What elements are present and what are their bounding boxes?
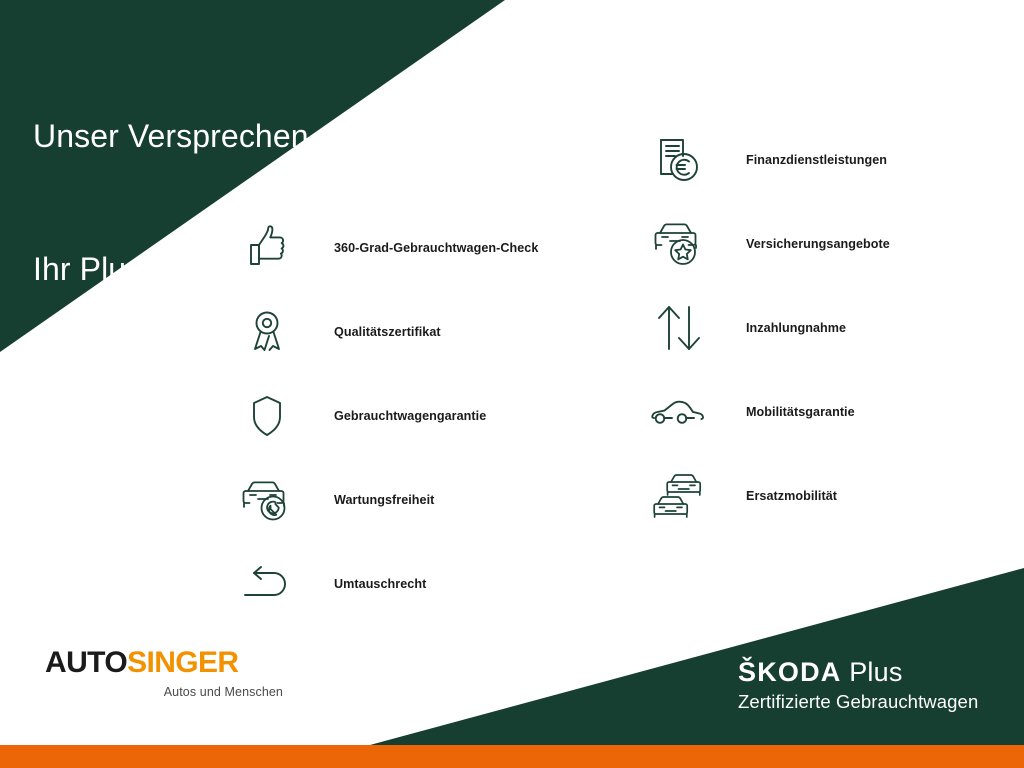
feature-label: Mobilitätsgarantie [746, 405, 855, 419]
feature-item: Mobilitätsgarantie [648, 370, 1008, 454]
feature-label: Qualitätszertifikat [334, 325, 441, 339]
two-cars-icon [648, 465, 710, 527]
feature-label: Finanzdienstleistungen [746, 153, 887, 167]
dealer-word-accent: SINGER [127, 646, 238, 679]
car-wrench-icon [236, 469, 298, 531]
dealer-logo: AUTOSINGER Autos und Menschen [45, 648, 285, 699]
up-down-arrows-icon [648, 297, 710, 359]
return-arrow-icon [236, 553, 298, 615]
feature-item: Umtauschrecht [236, 542, 596, 626]
dealer-tagline: Autos und Menschen [45, 685, 285, 699]
feature-item: Qualitätszertifikat [236, 290, 596, 374]
skoda-plus-label: Plus [842, 657, 903, 687]
dealer-wordmark: AUTOSINGER [45, 648, 285, 678]
skoda-logo-line-1: ŠKODA Plus [738, 658, 978, 687]
feature-item: Gebrauchtwagengarantie [236, 374, 596, 458]
feature-label: 360-Grad-Gebrauchtwagen-Check [334, 241, 538, 255]
feature-item: Versicherungsangebote [648, 202, 1008, 286]
skoda-plus-logo: ŠKODA Plus Zertifizierte Gebrauchtwagen [738, 658, 978, 713]
feature-label: Versicherungsangebote [746, 237, 890, 251]
feature-item: 360-Grad-Gebrauchtwagen-Check [236, 206, 596, 290]
dealer-word-primary: AUTO [45, 646, 127, 679]
headline-line-1: Unser Versprechen. [33, 114, 318, 158]
feature-item: Inzahlungnahme [648, 286, 1008, 370]
promo-banner: Unser Versprechen. Ihr Plus. 360-Grad-Ge… [0, 0, 1024, 768]
shield-icon [236, 385, 298, 447]
car-side-icon [648, 381, 710, 443]
feature-item: Wartungsfreiheit [236, 458, 596, 542]
feature-label: Gebrauchtwagengarantie [334, 409, 486, 423]
feature-label: Umtauschrecht [334, 577, 426, 591]
orange-footer-bar [0, 745, 1024, 768]
feature-label: Wartungsfreiheit [334, 493, 434, 507]
skoda-subtitle: Zertifizierte Gebrauchtwagen [738, 691, 978, 713]
feature-list-left: 360-Grad-Gebrauchtwagen-Check Qualitätsz… [236, 206, 596, 626]
feature-item: Ersatzmobilität [648, 454, 1008, 538]
skoda-brand-name: ŠKODA [738, 657, 842, 687]
award-rosette-icon [236, 301, 298, 363]
feature-label: Ersatzmobilität [746, 489, 837, 503]
feature-label: Inzahlungnahme [746, 321, 846, 335]
thumbs-up-icon [236, 217, 298, 279]
document-euro-icon [648, 129, 710, 191]
car-star-icon [648, 213, 710, 275]
feature-list-right: Finanzdienstleistungen Versicherungsange… [648, 118, 1008, 538]
feature-item: Finanzdienstleistungen [648, 118, 1008, 202]
